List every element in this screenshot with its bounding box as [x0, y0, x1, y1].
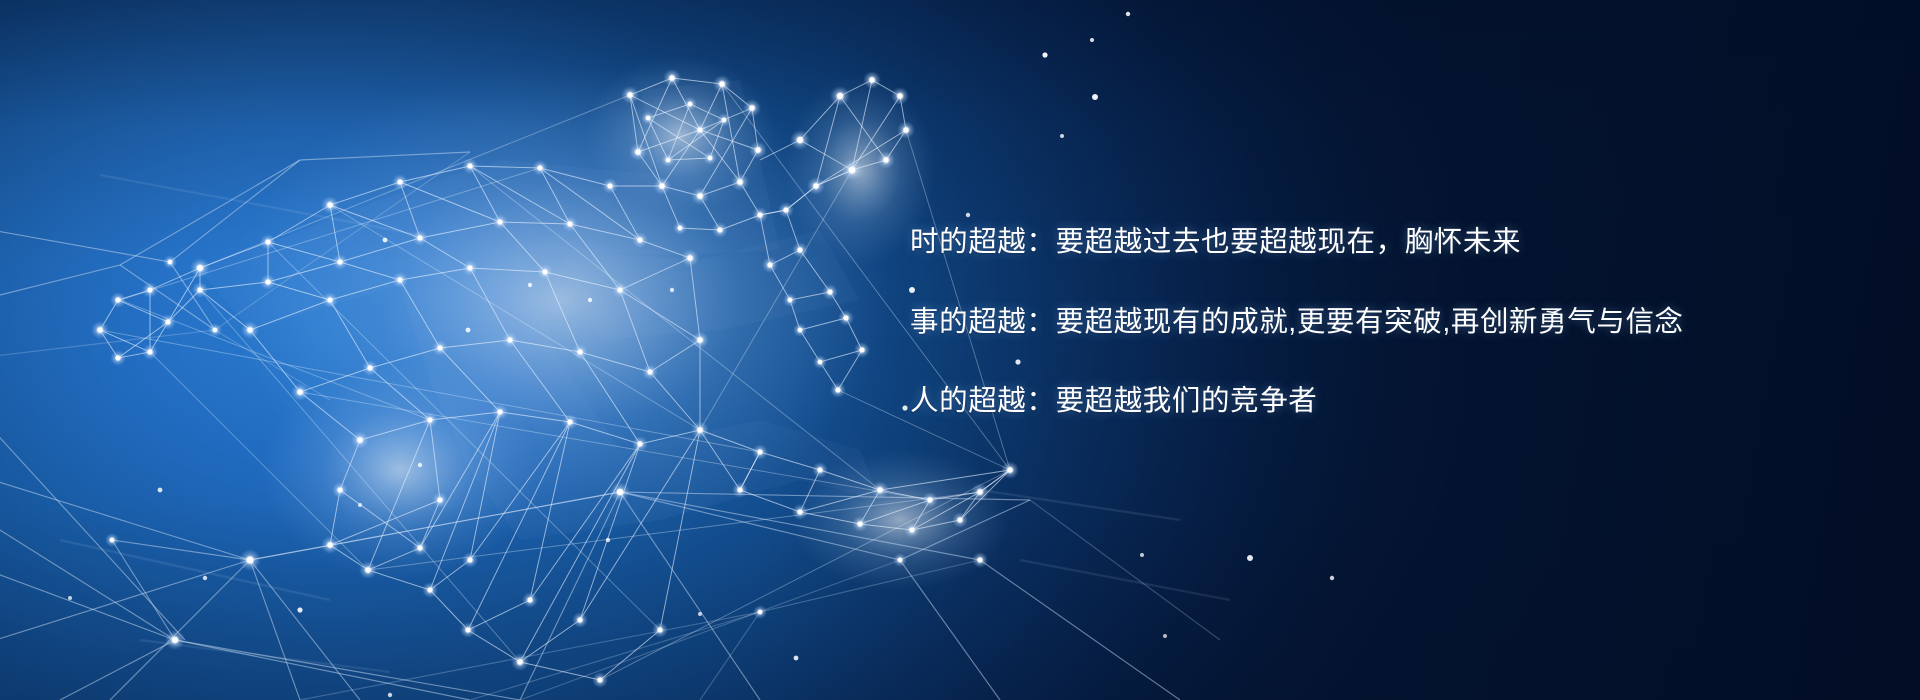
slogan-line-people: 人的超越：要超越我们的竞争者	[910, 387, 1810, 416]
slogan-line-matter: 事的超越：要超越现有的成就,更要有突破,再创新勇气与信念	[910, 308, 1810, 337]
slogan-line-time: 时的超越：要超越过去也要超越现在，胸怀未来	[910, 228, 1810, 257]
hero-banner: 时的超越：要超越过去也要超越现在，胸怀未来 事的超越：要超越现有的成就,更要有突…	[0, 0, 1920, 700]
slogan-text-block: 时的超越：要超越过去也要超越现在，胸怀未来 事的超越：要超越现有的成就,更要有突…	[910, 228, 1810, 416]
